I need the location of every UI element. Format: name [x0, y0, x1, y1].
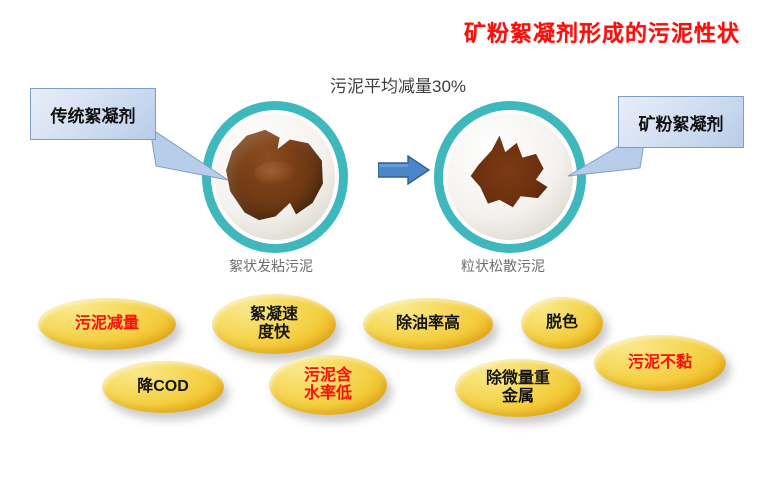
sludge-speck: [547, 158, 553, 163]
sludge-speck: [505, 222, 511, 227]
right-photo-caption: 粒状松散污泥: [461, 256, 545, 276]
benefit-line: 絮凝速: [250, 306, 298, 324]
sticky-sludge-blob: [224, 128, 327, 224]
benefit-pill-low-water-content[interactable]: 污泥含 水率低: [269, 355, 387, 415]
benefit-line: 污泥含: [304, 367, 352, 385]
transform-arrow: [378, 155, 430, 185]
right-photo-ring: [434, 101, 586, 253]
callout-label: 传统絮凝剂: [51, 102, 136, 127]
benefit-pill-lower-cod[interactable]: 降COD: [102, 361, 224, 413]
benefit-line: 脱色: [546, 314, 578, 331]
benefit-line: 污泥不黏: [628, 354, 692, 371]
callout-traditional-flocculant[interactable]: 传统絮凝剂: [30, 88, 156, 140]
left-photo-caption: 絮状发粘污泥: [229, 256, 313, 276]
benefit-pill-trace-heavy-metal-removal[interactable]: 除微量重 金属: [455, 359, 581, 417]
benefit-line: 降COD: [137, 378, 189, 395]
benefit-line: 除微量重: [486, 370, 550, 388]
benefit-pill-fast-flocculation[interactable]: 絮凝速 度快: [212, 294, 336, 354]
loose-sludge-blob: [463, 130, 559, 222]
benefit-pill-non-sticky-sludge[interactable]: 污泥不黏: [594, 335, 726, 391]
benefit-line: 金属: [486, 388, 550, 406]
benefit-line: 污泥减量: [75, 315, 139, 332]
left-callout-tail: [150, 126, 230, 182]
benefit-pill-high-oil-removal[interactable]: 除油率高: [363, 298, 493, 350]
benefit-line: 水率低: [304, 385, 352, 403]
callout-label: 矿粉絮凝剂: [639, 110, 724, 135]
sludge-speck: [555, 190, 563, 197]
slide-canvas: 矿粉絮凝剂形成的污泥性状 污泥平均减量30%: [0, 0, 764, 487]
benefit-pill-decolorization[interactable]: 脱色: [521, 297, 603, 349]
sludge-reduction-note: 污泥平均减量30%: [330, 72, 466, 97]
right-dish: [447, 114, 573, 240]
sludge-speck: [533, 216, 542, 223]
right-photo: [434, 101, 586, 253]
callout-mineral-powder-flocculant[interactable]: 矿粉絮凝剂: [618, 96, 744, 148]
benefit-line: 除油率高: [396, 315, 460, 332]
benefit-pill-sludge-reduction[interactable]: 污泥减量: [38, 298, 176, 350]
page-title: 矿粉絮凝剂形成的污泥性状: [464, 16, 740, 48]
sludge-speck: [459, 182, 466, 188]
left-dish: [215, 114, 335, 240]
benefit-line: 度快: [250, 324, 298, 342]
